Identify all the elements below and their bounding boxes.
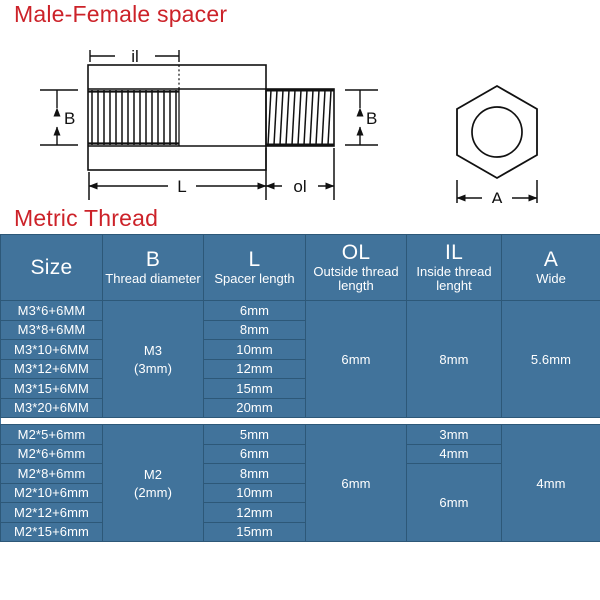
- table-row[interactable]: M3*6+6MMM3(3mm)6mm6mm8mm5.6mm: [1, 301, 600, 321]
- cell-wide: 4mm: [502, 425, 600, 542]
- cell-size: M3*6+6MM: [1, 301, 103, 321]
- cell-inside-thread-length: 6mm: [407, 464, 502, 542]
- header-sub-label: Wide: [502, 272, 600, 287]
- table-header-size: Size: [1, 235, 103, 301]
- block-separator-cell: [1, 418, 600, 425]
- cell-size: M2*8+6mm: [1, 464, 103, 484]
- cell-outside-thread-length: 6mm: [306, 301, 407, 418]
- header-main-label: OL: [306, 241, 406, 265]
- cell-size: M3*15+6MM: [1, 379, 103, 399]
- spec-sheet-page: Male-Female spacer: [0, 0, 600, 600]
- cell-size: M3*12+6MM: [1, 359, 103, 379]
- cell-spacer-length: 6mm: [204, 301, 306, 321]
- cell-size: M2*6+6mm: [1, 444, 103, 464]
- label-a: A: [491, 189, 503, 203]
- table-header-a: AWide: [502, 235, 600, 301]
- cell-size: M3*8+6MM: [1, 320, 103, 340]
- cell-spacer-length: 8mm: [204, 464, 306, 484]
- hex-nut-outline: [457, 86, 537, 178]
- cell-size: M2*15+6mm: [1, 522, 103, 542]
- table-header-il: ILInside thread lenght: [407, 235, 502, 301]
- thread-designation: M3: [103, 343, 203, 358]
- external-thread-hatch: [268, 90, 331, 145]
- cell-spacer-length: 15mm: [204, 379, 306, 399]
- header-main-label: Size: [1, 256, 102, 280]
- cell-spacer-length: 12mm: [204, 503, 306, 523]
- cell-spacer-length: 20mm: [204, 398, 306, 418]
- spec-table-container: SizeBThread diameterLSpacer lengthOLOuts…: [0, 234, 600, 542]
- label-ol: ol: [293, 177, 306, 196]
- table-header: SizeBThread diameterLSpacer lengthOLOuts…: [1, 235, 600, 301]
- cell-spacer-length: 10mm: [204, 340, 306, 360]
- cell-outside-thread-length: 6mm: [306, 425, 407, 542]
- cell-thread-diameter: M2(2mm): [103, 425, 204, 542]
- metric-thread-table: SizeBThread diameterLSpacer lengthOLOuts…: [0, 234, 600, 542]
- spacer-body-outline: [88, 65, 266, 170]
- cell-size: M3*10+6MM: [1, 340, 103, 360]
- cell-spacer-length: 15mm: [204, 522, 306, 542]
- header-main-label: B: [103, 248, 203, 272]
- cell-spacer-length: 10mm: [204, 483, 306, 503]
- header-sub-label: Spacer length: [204, 272, 305, 287]
- cell-spacer-length: 5mm: [204, 425, 306, 445]
- internal-thread-hatch: [92, 90, 176, 145]
- label-b-left: B: [64, 109, 75, 128]
- thread-diameter-note: (3mm): [103, 361, 203, 376]
- header-row: SizeBThread diameterLSpacer lengthOLOuts…: [1, 235, 600, 301]
- cell-inside-thread-length: 8mm: [407, 301, 502, 418]
- cell-size: M2*12+6mm: [1, 503, 103, 523]
- header-sub-label: Outside thread length: [306, 265, 406, 294]
- cell-inside-thread-length: 4mm: [407, 444, 502, 464]
- table-header-l: LSpacer length: [204, 235, 306, 301]
- thread-diameter-note: (2mm): [103, 485, 203, 500]
- header-main-label: A: [502, 248, 600, 272]
- header-main-label: L: [204, 248, 305, 272]
- header-main-label: IL: [407, 241, 501, 265]
- section-title-spacer: Male-Female spacer: [14, 1, 227, 28]
- label-il: il: [131, 47, 139, 66]
- cell-size: M2*5+6mm: [1, 425, 103, 445]
- hex-bore-circle: [472, 107, 522, 157]
- thread-designation: M2: [103, 467, 203, 482]
- table-body: M3*6+6MMM3(3mm)6mm6mm8mm5.6mmM3*8+6MM8mm…: [1, 301, 600, 542]
- label-b-right: B: [366, 109, 377, 128]
- cell-size: M3*20+6MM: [1, 398, 103, 418]
- table-header-ol: OLOutside thread length: [306, 235, 407, 301]
- technical-drawing: il B B L ol A: [0, 28, 600, 203]
- table-row[interactable]: M2*5+6mmM2(2mm)5mm6mm3mm4mm: [1, 425, 600, 445]
- cell-spacer-length: 12mm: [204, 359, 306, 379]
- table-header-b: BThread diameter: [103, 235, 204, 301]
- cell-size: M2*10+6mm: [1, 483, 103, 503]
- cell-thread-diameter: M3(3mm): [103, 301, 204, 418]
- cell-inside-thread-length: 3mm: [407, 425, 502, 445]
- cell-spacer-length: 6mm: [204, 444, 306, 464]
- cell-wide: 5.6mm: [502, 301, 600, 418]
- header-sub-label: Thread diameter: [103, 272, 203, 287]
- header-sub-label: Inside thread lenght: [407, 265, 501, 294]
- section-title-metric: Metric Thread: [14, 205, 158, 232]
- cell-spacer-length: 8mm: [204, 320, 306, 340]
- label-l: L: [177, 177, 186, 196]
- spacer-drawing-svg: il B B L ol A: [0, 28, 600, 203]
- block-separator: [1, 418, 600, 425]
